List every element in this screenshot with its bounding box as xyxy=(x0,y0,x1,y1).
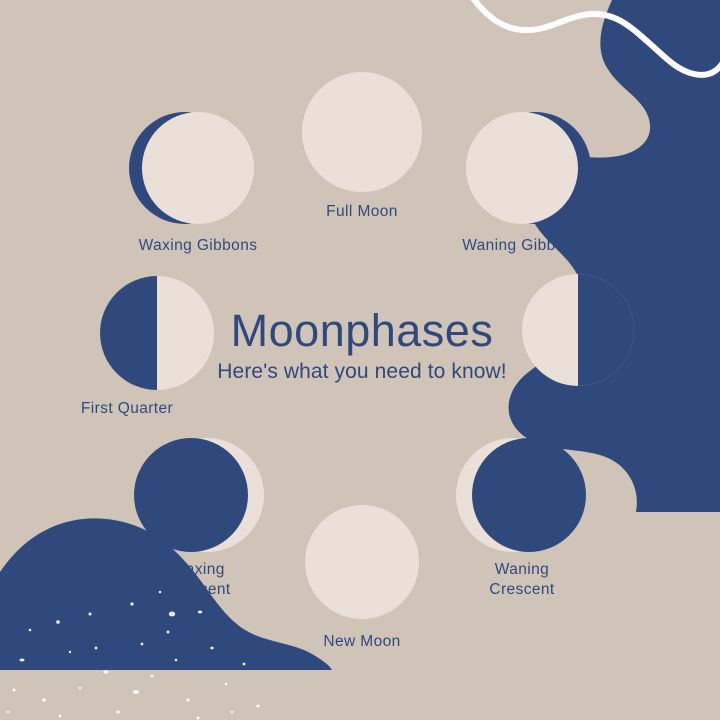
moon-waxing-crescent xyxy=(134,438,264,552)
moon-waxing-gibbons xyxy=(129,112,254,224)
label-first-quarter: First Quarter xyxy=(81,399,173,419)
label-waxing-gibbons: Waxing Gibbons xyxy=(139,236,258,256)
label-waning-gibbons: Waning Gibbons xyxy=(462,236,582,256)
label-third-quarter: Third Quarter xyxy=(543,399,640,419)
moon-waning-gibbons xyxy=(466,112,591,224)
moonphases-poster: Waxing Gibbons Full Moon Waning Gibbons … xyxy=(0,0,720,720)
moon-full-moon xyxy=(302,72,422,192)
label-full-moon: Full Moon xyxy=(326,202,398,222)
moon-new-moon xyxy=(305,505,419,619)
label-new-moon: New Moon xyxy=(323,632,400,652)
label-waxing-crescent: Waxing Crescent xyxy=(165,560,230,600)
center-heading-block: Moonphases Here's what you need to know! xyxy=(152,306,572,386)
label-waning-crescent: Waning Crescent xyxy=(489,560,554,600)
moon-waning-crescent xyxy=(456,438,586,552)
page-subtitle: Here's what you need to know! xyxy=(152,358,572,386)
page-title: Moonphases xyxy=(152,306,572,356)
